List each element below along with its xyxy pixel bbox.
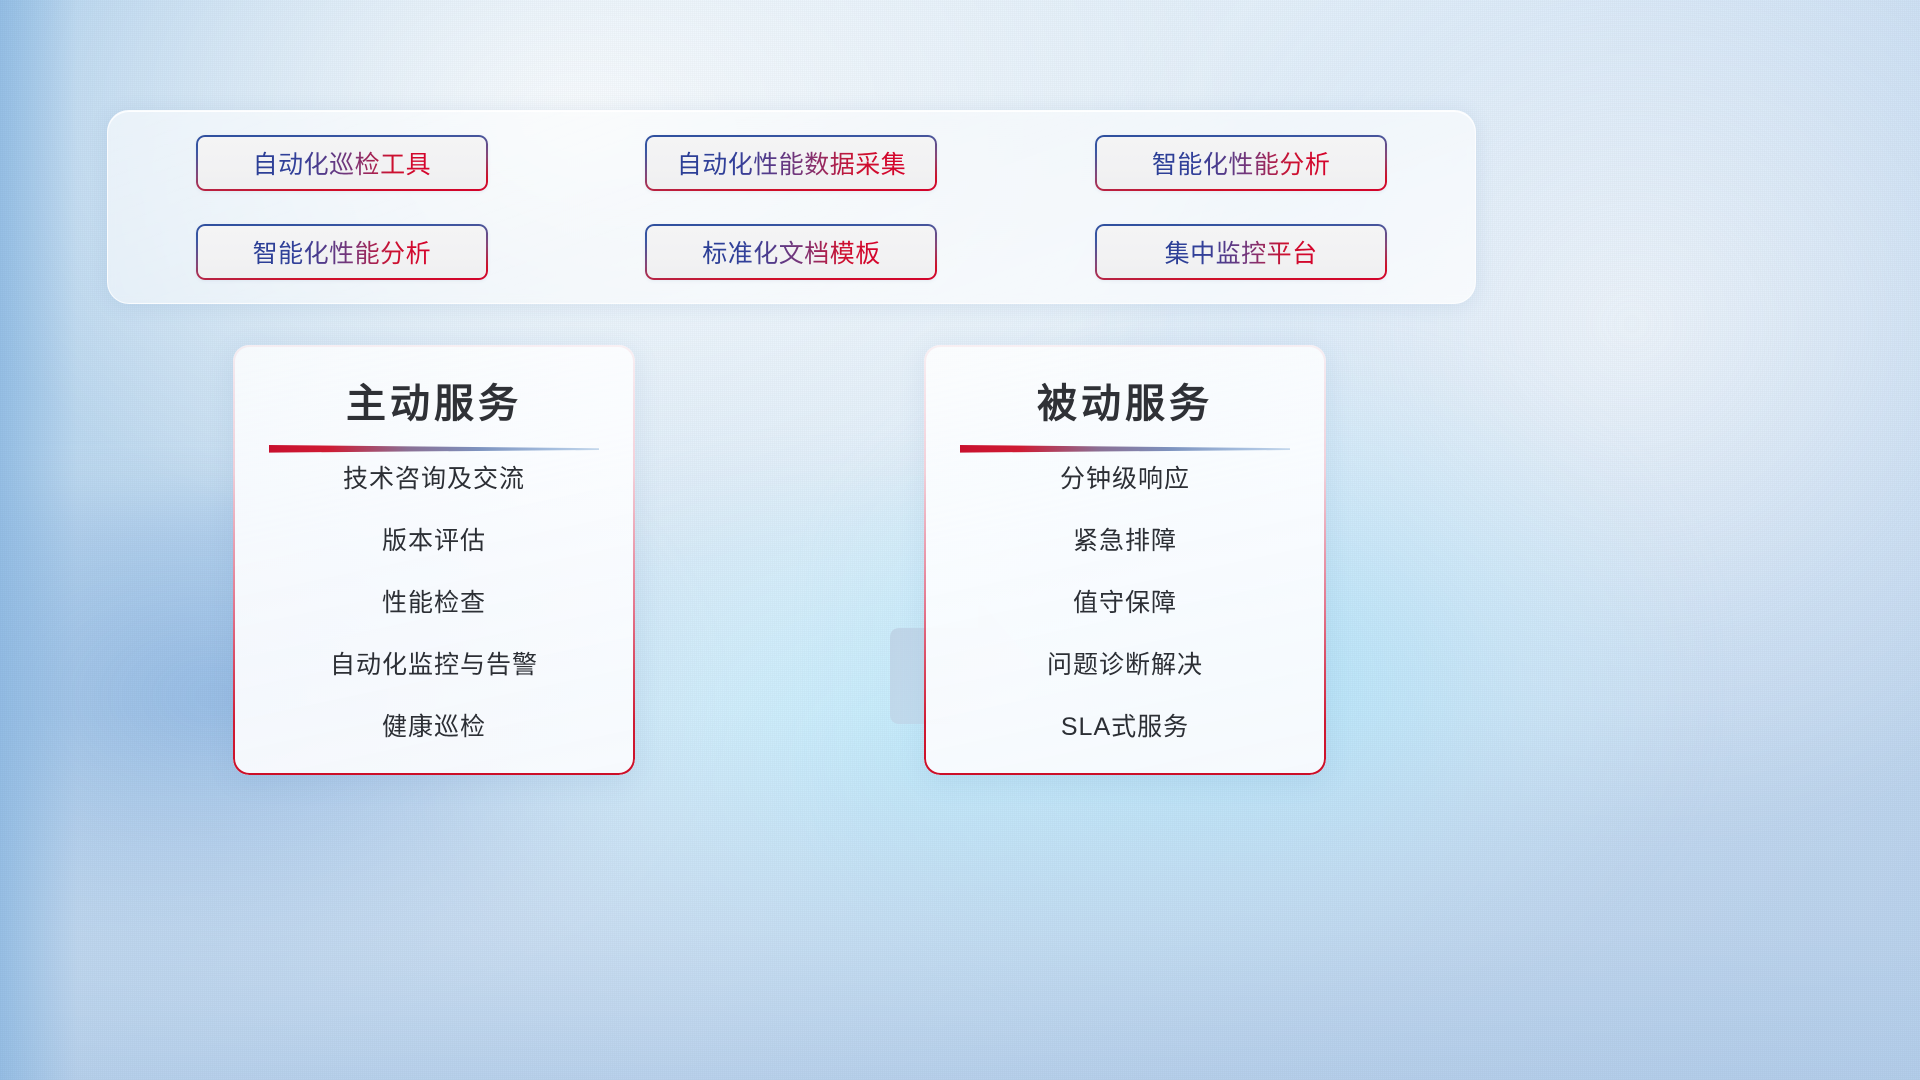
card-divider <box>269 443 599 455</box>
list-item: 版本评估 <box>263 521 605 557</box>
tag-label: 标准化文档模板 <box>702 234 881 270</box>
tag-standard-document-template[interactable]: 标准化文档模板 <box>645 224 937 280</box>
tag-automated-performance-collection[interactable]: 自动化性能数据采集 <box>645 135 937 191</box>
card-item-list: 技术咨询及交流 版本评估 性能检查 自动化监控与告警 健康巡检 <box>263 455 605 753</box>
capability-tags-grid: 自动化巡检工具 自动化性能数据采集 智能化性能分析 智能化性能分析 标准化文档模… <box>108 111 1475 303</box>
list-item: SLA式服务 <box>954 707 1296 743</box>
tag-automated-inspection-tool[interactable]: 自动化巡检工具 <box>196 135 488 191</box>
tag-centralized-monitoring-platform[interactable]: 集中监控平台 <box>1095 224 1387 280</box>
card-content: 主动服务 技术咨询及交流 版本评估 性能检查 <box>233 345 635 775</box>
list-item: 紧急排障 <box>954 521 1296 557</box>
card-item-list: 分钟级响应 紧急排障 值守保障 问题诊断解决 SLA式服务 <box>954 455 1296 753</box>
card-divider <box>960 443 1290 455</box>
tag-intelligent-performance-analysis-2[interactable]: 智能化性能分析 <box>196 224 488 280</box>
tag-label: 自动化巡检工具 <box>253 145 432 181</box>
proactive-service-card: 主动服务 技术咨询及交流 版本评估 性能检查 <box>233 345 635 775</box>
capability-tags-panel: 自动化巡检工具 自动化性能数据采集 智能化性能分析 智能化性能分析 标准化文档模… <box>107 110 1476 304</box>
list-item: 分钟级响应 <box>954 459 1296 495</box>
list-item: 健康巡检 <box>263 707 605 743</box>
tag-intelligent-performance-analysis[interactable]: 智能化性能分析 <box>1095 135 1387 191</box>
tag-label: 智能化性能分析 <box>1152 145 1331 181</box>
tag-label: 自动化性能数据采集 <box>677 145 907 181</box>
list-item: 性能检查 <box>263 583 605 619</box>
list-item: 问题诊断解决 <box>954 645 1296 681</box>
card-title: 被动服务 <box>954 379 1296 429</box>
list-item: 技术咨询及交流 <box>263 459 605 495</box>
reactive-service-card: 被动服务 分钟级响应 紧急排障 值守保障 <box>924 345 1326 775</box>
card-content: 被动服务 分钟级响应 紧急排障 值守保障 <box>924 345 1326 775</box>
list-item: 值守保障 <box>954 583 1296 619</box>
list-item: 自动化监控与告警 <box>263 645 605 681</box>
tag-label: 集中监控平台 <box>1165 234 1318 270</box>
tag-label: 智能化性能分析 <box>253 234 432 270</box>
card-title: 主动服务 <box>263 379 605 429</box>
